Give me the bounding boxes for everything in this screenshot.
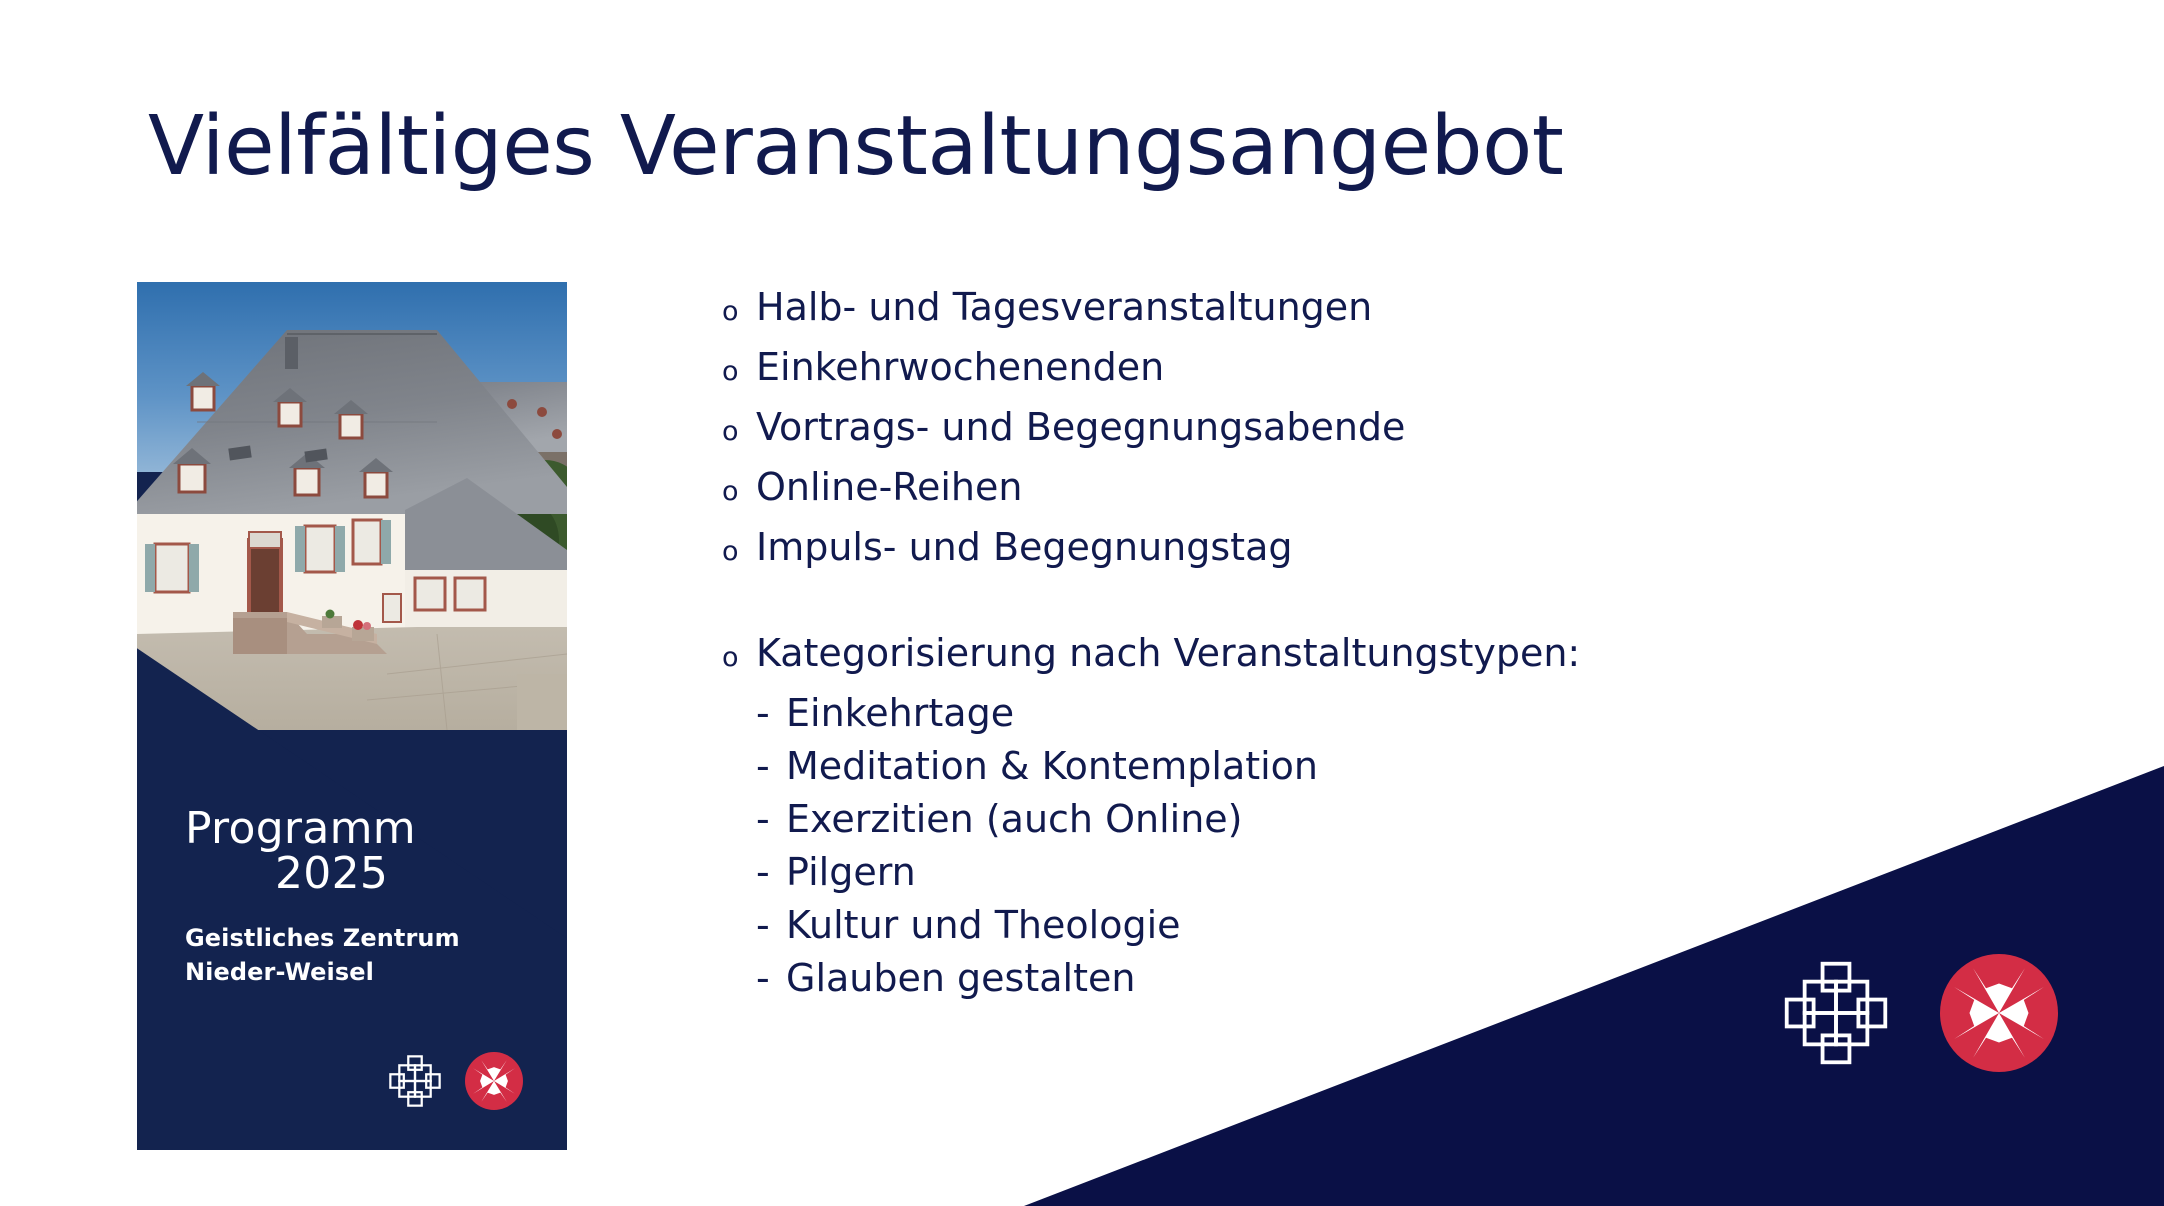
presentation-slide: Vielfältiges Veranstaltungsangebot bbox=[0, 0, 2164, 1206]
bullet-dash-marker: - bbox=[756, 906, 786, 944]
sub-list-item-label: Einkehrtage bbox=[786, 694, 1014, 732]
sub-list-item-label: Meditation & Kontemplation bbox=[786, 747, 1318, 785]
bullet-circle-marker: o bbox=[722, 418, 756, 445]
event-types-list: o Halb- und Tagesveranstaltungen o Einke… bbox=[722, 288, 1902, 1012]
sub-list-item: - Meditation & Kontemplation bbox=[756, 747, 1902, 785]
sub-list-item: - Glauben gestalten bbox=[756, 959, 1902, 997]
bullet-dash-marker: - bbox=[756, 800, 786, 838]
jerusalem-cross-icon bbox=[387, 1053, 443, 1113]
list-item-label: Online-Reihen bbox=[756, 468, 1022, 506]
list-item: o Online-Reihen bbox=[722, 468, 1902, 506]
brochure-programm-label: Programm bbox=[185, 807, 545, 852]
corner-logo-group bbox=[1780, 954, 2058, 1076]
sub-list-item: - Exerzitien (auch Online) bbox=[756, 800, 1902, 838]
brochure-year: 2025 bbox=[185, 852, 545, 897]
brochure-org-line-2: Nieder-Weisel bbox=[185, 955, 545, 990]
list-item: o Halb- und Tagesveranstaltungen bbox=[722, 288, 1902, 326]
list-item-label: Halb- und Tagesveranstaltungen bbox=[756, 288, 1372, 326]
bullet-dash-marker: - bbox=[756, 747, 786, 785]
sub-list-item-label: Pilgern bbox=[786, 853, 916, 891]
bullet-circle-marker: o bbox=[722, 298, 756, 325]
category-sub-list: - Einkehrtage - Meditation & Kontemplati… bbox=[722, 694, 1902, 997]
bullet-circle-marker: o bbox=[722, 644, 756, 671]
bullet-circle-marker: o bbox=[722, 478, 756, 505]
list-item-label: Impuls- und Begegnungstag bbox=[756, 528, 1293, 566]
list-item-label: Einkehrwochenenden bbox=[756, 348, 1164, 386]
brochure-logo-group bbox=[387, 1052, 523, 1114]
sub-list-item: - Einkehrtage bbox=[756, 694, 1902, 732]
brochure-text-block: Programm 2025 Geistliches Zentrum Nieder… bbox=[185, 807, 545, 990]
sub-list-item-label: Exerzitien (auch Online) bbox=[786, 800, 1242, 838]
bullet-circle-marker: o bbox=[722, 538, 756, 565]
bullet-dash-marker: - bbox=[756, 959, 786, 997]
bullet-dash-marker: - bbox=[756, 694, 786, 732]
sub-list-item: - Pilgern bbox=[756, 853, 1902, 891]
maltese-cross-icon bbox=[465, 1052, 523, 1114]
list-item: o Vortrags- und Begegnungsabende bbox=[722, 408, 1902, 446]
sub-list-item: - Kultur und Theologie bbox=[756, 906, 1902, 944]
page-title: Vielfältiges Veranstaltungsangebot bbox=[148, 106, 1563, 188]
bullet-dash-marker: - bbox=[756, 853, 786, 891]
jerusalem-cross-icon bbox=[1780, 957, 1892, 1073]
bullet-circle-marker: o bbox=[722, 358, 756, 385]
maltese-cross-icon bbox=[1940, 954, 2058, 1076]
building-photo bbox=[137, 282, 567, 730]
sub-list-item-label: Kultur und Theologie bbox=[786, 906, 1181, 944]
list-item: o Impuls- und Begegnungstag bbox=[722, 528, 1902, 566]
brochure-org-line-1: Geistliches Zentrum bbox=[185, 921, 545, 956]
list-spacer bbox=[722, 588, 1902, 634]
list-item: o Einkehrwochenenden bbox=[722, 348, 1902, 386]
sub-list-item-label: Glauben gestalten bbox=[786, 959, 1135, 997]
list-item-label: Vortrags- und Begegnungsabende bbox=[756, 408, 1405, 446]
list-item-categorisation: o Kategorisierung nach Veranstaltungstyp… bbox=[722, 634, 1902, 672]
brochure-cover-card: Programm 2025 Geistliches Zentrum Nieder… bbox=[137, 282, 567, 1150]
list-item-label: Kategorisierung nach Veranstaltungstypen… bbox=[756, 634, 1580, 672]
